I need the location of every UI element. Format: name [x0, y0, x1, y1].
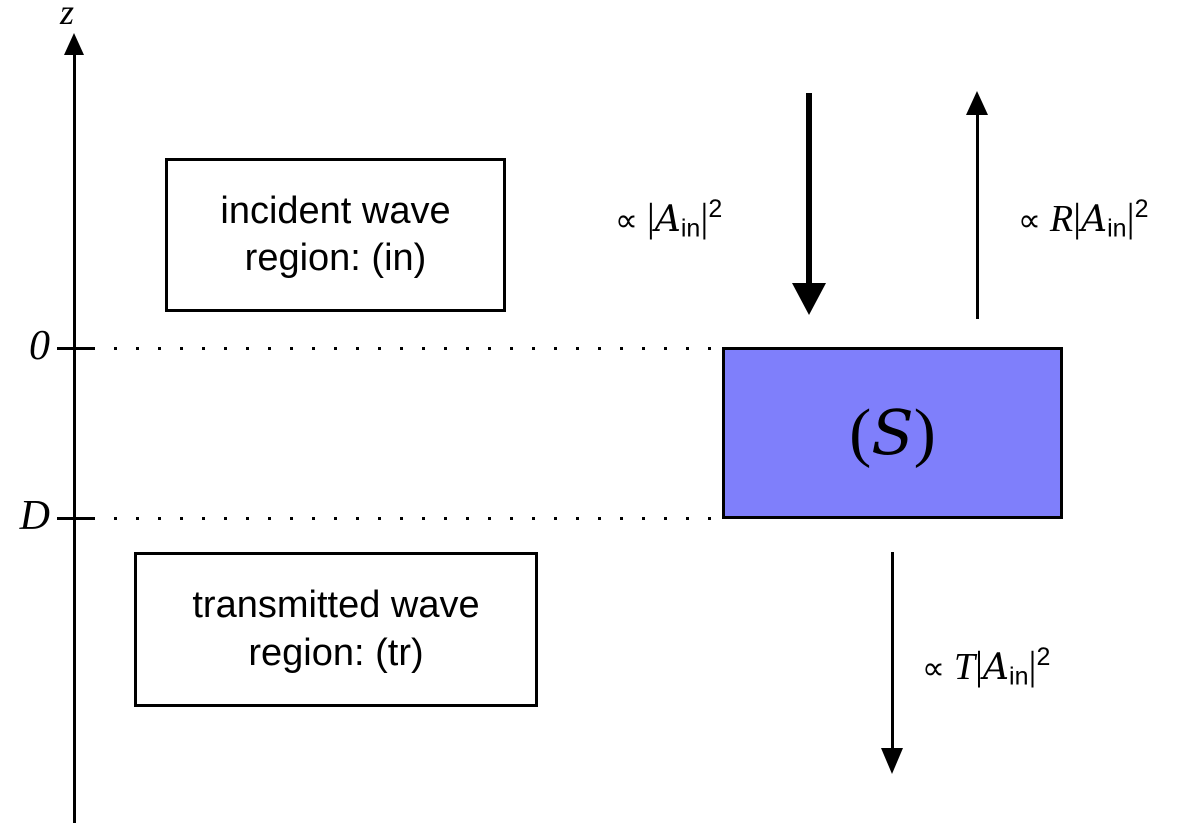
- transmitted-arrow-shaft: [891, 552, 894, 754]
- dotted-interface-zero: [92, 347, 722, 350]
- incident-flux-label: ∝ |Ain|2: [615, 197, 722, 241]
- transmitted-flux-label: ∝ T|Ain|2: [922, 645, 1050, 689]
- reflected-bar-open: |: [1073, 195, 1081, 240]
- z-axis-line: [73, 47, 76, 823]
- scattering-slab-label: (S): [849, 400, 935, 466]
- transmitted-proportional-icon: ∝: [922, 649, 945, 687]
- tick-mark-zero: [57, 347, 93, 350]
- transmission-coefficient-symbol: T: [954, 646, 975, 688]
- axis-label-d: D: [2, 495, 50, 537]
- incident-amplitude-symbol: A: [655, 199, 681, 240]
- transmitted-region-line-2: region: (tr): [248, 630, 423, 678]
- incident-arrow-head: [792, 283, 826, 315]
- reflected-arrow-shaft: [976, 103, 979, 319]
- z-axis-label: z: [60, 0, 74, 30]
- reflected-flux-label: ∝ R|Ain|2: [1018, 197, 1148, 241]
- dotted-interface-d: [92, 517, 722, 520]
- reflected-arrow-head: [966, 91, 988, 115]
- incident-bar-open: |: [647, 195, 655, 240]
- incident-wave-arrow-icon: [789, 93, 829, 319]
- reflected-amplitude-symbol: A: [1081, 199, 1107, 240]
- diagram-canvas: z 0 D incident wave region: (in) transmi…: [0, 0, 1200, 827]
- z-axis-arrowhead-icon: [64, 33, 84, 55]
- incident-amplitude-subscript: in: [681, 214, 700, 242]
- incident-region-box: incident wave region: (in): [165, 158, 506, 312]
- incident-arrow-shaft: [806, 93, 812, 289]
- scatterer-open-paren: (: [849, 396, 871, 469]
- incident-exponent: 2: [708, 195, 722, 223]
- reflected-exponent: 2: [1135, 195, 1149, 223]
- axis-label-zero: 0: [2, 325, 50, 367]
- incident-region-line-1: incident wave: [220, 188, 450, 236]
- incident-region-line-2: region: (in): [245, 235, 427, 283]
- reflected-proportional-icon: ∝: [1018, 201, 1041, 239]
- transmitted-bar-close: |: [1028, 643, 1036, 688]
- scatterer-symbol: S: [871, 396, 913, 469]
- incident-proportional-icon: ∝: [615, 201, 638, 239]
- transmitted-amplitude-subscript: in: [1009, 662, 1028, 690]
- reflected-amplitude-subscript: in: [1107, 214, 1126, 242]
- scattering-slab: (S): [722, 347, 1063, 519]
- reflected-wave-arrow-icon: [959, 91, 995, 319]
- transmitted-amplitude-symbol: A: [983, 647, 1009, 688]
- transmitted-exponent: 2: [1037, 643, 1051, 671]
- transmitted-bar-open: |: [975, 643, 983, 688]
- scatterer-close-paren: ): [914, 396, 936, 469]
- transmitted-arrow-head: [881, 748, 903, 774]
- tick-mark-d: [57, 517, 93, 520]
- reflection-coefficient-symbol: R: [1050, 198, 1073, 240]
- transmitted-region-box: transmitted wave region: (tr): [134, 552, 538, 707]
- transmitted-region-line-1: transmitted wave: [192, 582, 479, 630]
- transmitted-wave-arrow-icon: [874, 552, 910, 776]
- reflected-bar-close: |: [1127, 195, 1135, 240]
